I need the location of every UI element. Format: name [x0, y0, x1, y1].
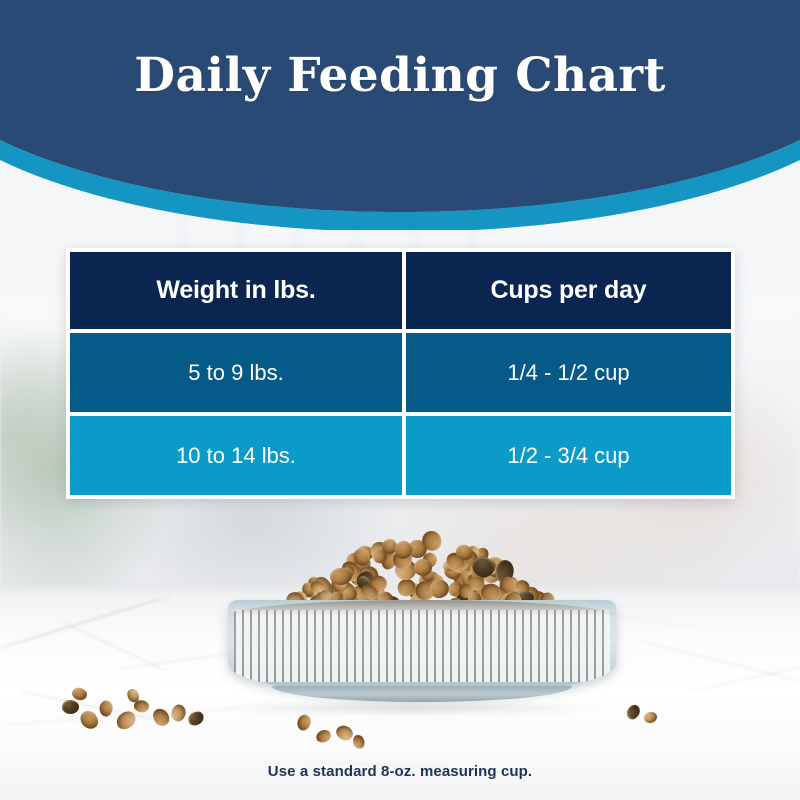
measuring-cup-note: Use a standard 8-oz. measuring cup.	[0, 763, 800, 780]
column-header-weight: Weight in lbs.	[70, 252, 402, 329]
table-row: 10 to 14 lbs. 1/2 - 3/4 cup	[70, 416, 731, 495]
table-header-row: Weight in lbs. Cups per day	[70, 252, 731, 329]
header-banner	[0, 0, 800, 230]
cell-weight: 10 to 14 lbs.	[70, 416, 402, 495]
bowl-foot	[272, 686, 572, 702]
dog-food-bowl	[228, 518, 616, 718]
cell-cups: 1/2 - 3/4 cup	[406, 416, 731, 495]
cell-cups: 1/4 - 1/2 cup	[406, 333, 731, 412]
cell-weight: 5 to 9 lbs.	[70, 333, 402, 412]
feeding-chart-graphic: Daily Feeding Chart Weight in lbs. Cups …	[0, 0, 800, 800]
kibble-piece	[413, 558, 432, 575]
column-header-cups: Cups per day	[406, 252, 731, 329]
feeding-table: Weight in lbs. Cups per day 5 to 9 lbs. …	[66, 248, 735, 499]
navy-header-shape	[0, 0, 800, 212]
page-title: Daily Feeding Chart	[0, 48, 800, 103]
table-row: 5 to 9 lbs. 1/4 - 1/2 cup	[70, 333, 731, 412]
kibble-piece	[62, 700, 79, 714]
bowl-flutes	[234, 610, 610, 682]
